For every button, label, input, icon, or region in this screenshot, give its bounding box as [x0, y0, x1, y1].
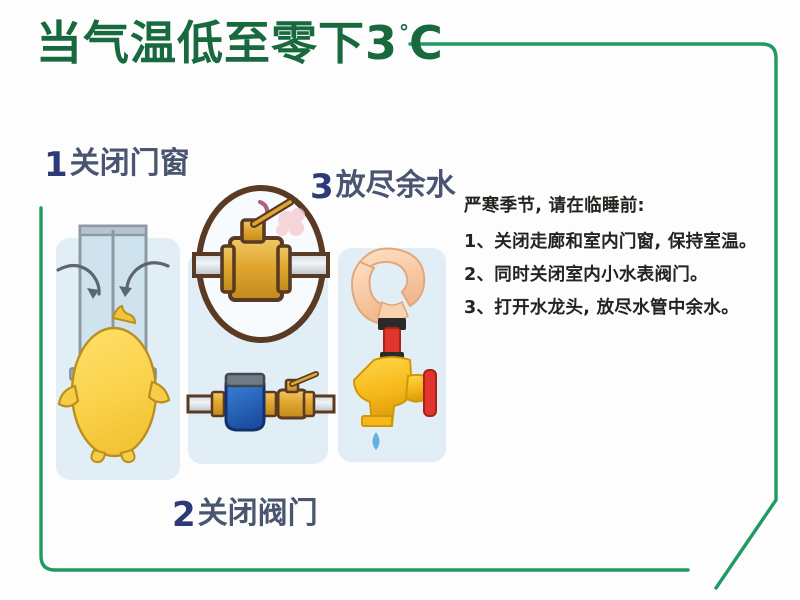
step-3-illustration-panel [338, 248, 446, 462]
step-2-number: 2 [172, 495, 196, 535]
step-2-illustration-panel [188, 252, 328, 464]
step-1-number: 1 [44, 145, 68, 185]
poster-canvas: 当气温低至零下3°C [0, 0, 800, 600]
step-3-caption: 3放尽余水 [310, 160, 456, 204]
title-unit: C [409, 16, 444, 70]
title-main-text: 当气温低至零下3 [36, 16, 398, 70]
page-title: 当气温低至零下3°C [36, 20, 444, 66]
instructions-block: 严寒季节, 请在临睡前: 1、关闭走廊和室内门窗, 保持室温。 2、同时关闭室内… [464, 190, 764, 325]
sliding-door-window-with-chick-icon [56, 238, 180, 480]
step-1-illustration-panel [56, 238, 180, 480]
step-3-label: 放尽余水 [336, 168, 456, 203]
hand-opening-faucet-icon [338, 248, 446, 462]
instruction-line-1: 1、关闭走廊和室内门窗, 保持室温。 [464, 226, 764, 259]
degree-symbol: ° [399, 20, 410, 44]
instruction-line-2: 2、同时关闭室内小水表阀门。 [464, 259, 764, 292]
step-2-label: 关闭阀门 [198, 496, 318, 531]
step-3-number: 3 [310, 167, 334, 207]
instruction-line-3: 3、打开水龙头, 放尽水管中余水。 [464, 292, 764, 325]
step-2-caption: 2关闭阀门 [172, 488, 318, 532]
instructions-heading: 严寒季节, 请在临睡前: [464, 190, 764, 223]
step-1-caption: 1关闭门窗 [44, 138, 190, 182]
water-meter-valve-icon [188, 252, 328, 464]
step-1-label: 关闭门窗 [70, 146, 190, 181]
